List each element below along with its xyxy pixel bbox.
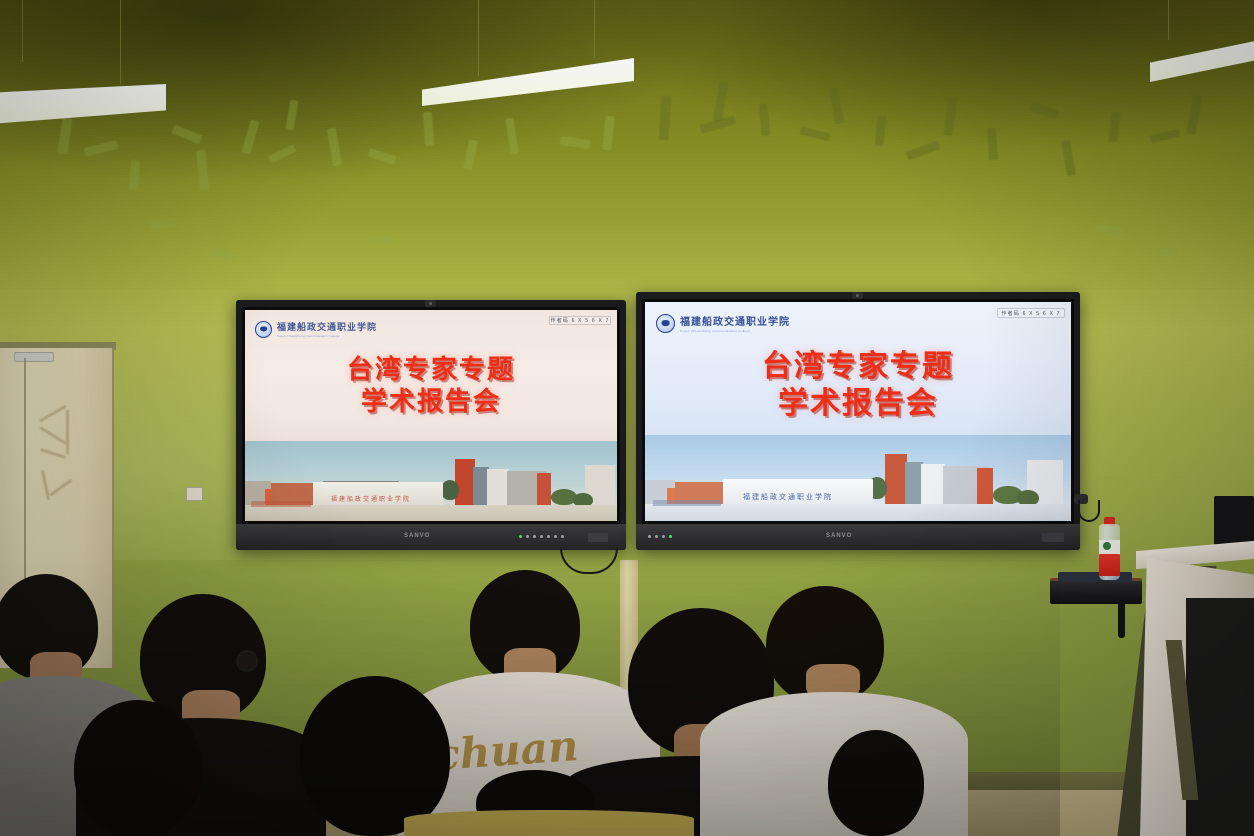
slide-corner-badge-left: 作者码 6 X 5 6 X 7	[549, 316, 611, 325]
slide-logo-en: Fujian Chuanzheng Communication College	[680, 329, 790, 332]
power-led-icon	[669, 535, 672, 538]
control-button-icon[interactable]	[655, 535, 658, 538]
port-panel	[588, 533, 608, 542]
camera-icon	[852, 292, 863, 299]
photo-ground	[645, 504, 1071, 521]
light-suspension-wire	[22, 0, 23, 62]
slide-logo-cn: 福建船政交通职业学院	[680, 313, 790, 328]
slide-corner-badge-right: 作者码 6 X 5 6 X 7	[997, 308, 1065, 318]
slide-logo-en: Fujian Chuanzheng Communication College	[277, 334, 377, 337]
school-emblem-icon	[656, 314, 675, 333]
control-button-icon[interactable]	[554, 535, 557, 538]
wall-light-switch[interactable]	[186, 487, 203, 501]
left-display-screen[interactable]: 福建船政交通职业学院 Fujian Chuanzheng Communicati…	[245, 310, 617, 521]
head	[300, 676, 450, 836]
door-scuff	[66, 410, 69, 454]
control-button-icon[interactable]	[540, 535, 543, 538]
wall-upper	[0, 0, 1254, 300]
control-button-icon[interactable]	[561, 535, 564, 538]
control-button-icon[interactable]	[648, 535, 651, 538]
photo-building	[487, 469, 509, 507]
photo-crowd	[653, 500, 721, 506]
left-display-chin: SANVO	[236, 524, 626, 550]
slide-campus-photo-left: 福建船政交通职业学院	[245, 441, 617, 521]
slide-left: 福建船政交通职业学院 Fujian Chuanzheng Communicati…	[245, 310, 617, 521]
control-button-icon[interactable]	[547, 535, 550, 538]
glasses	[236, 650, 258, 672]
camera-icon	[425, 300, 436, 307]
control-button-icon[interactable]	[526, 535, 529, 538]
light-suspension-wire	[478, 0, 479, 76]
photo-building	[977, 468, 993, 506]
photo-crowd	[251, 501, 311, 507]
slide-campus-photo-right: 福建船政交通职业学院	[645, 435, 1071, 521]
left-display[interactable]: 福建船政交通职业学院 Fujian Chuanzheng Communicati…	[236, 300, 626, 550]
left-display-brand: SANVO	[404, 533, 430, 539]
school-emblem-icon	[255, 321, 272, 338]
lecture-hall-photo: 福建船政交通职业学院 Fujian Chuanzheng Communicati…	[0, 0, 1254, 836]
slide-logo-cn: 福建船政交通职业学院	[277, 320, 377, 333]
bottle-logo-icon	[1103, 542, 1111, 550]
photo-building	[537, 473, 551, 507]
light-suspension-wire	[120, 0, 121, 84]
right-display-brand: SANVO	[826, 533, 852, 539]
photo-tree	[441, 480, 459, 500]
slide-title-line2-left: 学术报告会	[245, 388, 617, 417]
slide-title-line2-right: 学术报告会	[645, 387, 1071, 421]
podium-front-panel	[1186, 598, 1254, 836]
right-display-controls[interactable]	[648, 535, 672, 538]
torso	[404, 810, 694, 836]
port-panel	[1042, 533, 1064, 542]
slide-logo-right: 福建船政交通职业学院 Fujian Chuanzheng Communicati…	[656, 313, 790, 333]
photo-wall-caption: 福建船政交通职业学院	[331, 494, 411, 503]
light-suspension-wire	[594, 0, 595, 58]
control-button-icon[interactable]	[533, 535, 536, 538]
photo-wall-caption: 福建船政交通职业学院	[743, 492, 833, 502]
display-cable-right	[1078, 500, 1100, 522]
photo-building	[921, 464, 945, 506]
shirt-graphic-text: chuan	[432, 721, 579, 780]
head	[828, 730, 924, 836]
photo-ground	[245, 505, 617, 521]
left-display-controls[interactable]	[519, 535, 564, 538]
control-button-icon[interactable]	[662, 535, 665, 538]
microphone[interactable]	[1118, 600, 1125, 638]
head	[74, 700, 202, 836]
right-display-chin: SANVO	[636, 524, 1080, 550]
bottle-label	[1099, 554, 1120, 576]
right-display[interactable]: 福建船政交通职业学院 Fujian Chuanzheng Communicati…	[636, 292, 1080, 550]
slide-logo-left: 福建船政交通职业学院 Fujian Chuanzheng Communicati…	[255, 320, 377, 338]
photo-building	[455, 459, 475, 507]
slide-right: 福建船政交通职业学院 Fujian Chuanzheng Communicati…	[645, 302, 1071, 521]
power-led-icon	[519, 535, 522, 538]
light-suspension-wire	[1168, 0, 1169, 40]
photo-building	[885, 454, 907, 506]
right-display-screen[interactable]: 福建船政交通职业学院 Fujian Chuanzheng Communicati…	[645, 302, 1071, 521]
slide-title-line1-right: 台湾专家专题	[645, 350, 1071, 384]
door-closer	[14, 352, 54, 362]
shelf-pad	[1058, 572, 1132, 582]
slide-title-line1-left: 台湾专家专题	[245, 356, 617, 385]
